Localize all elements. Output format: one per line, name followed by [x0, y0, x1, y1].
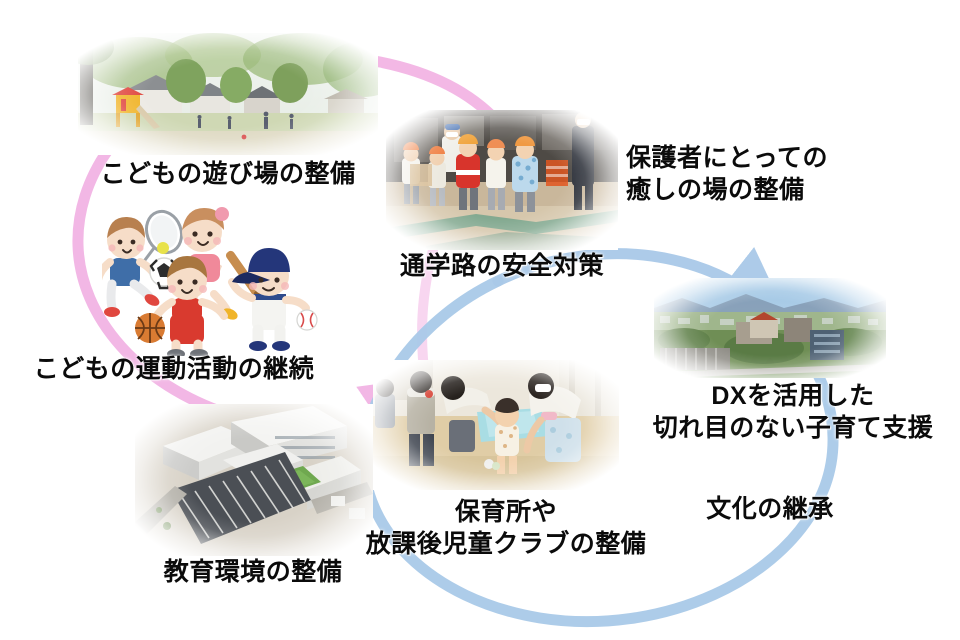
caption-playground: こどもの遊び場の整備	[78, 158, 378, 190]
caption-sports-activity: こどもの運動活動の継続	[14, 353, 334, 385]
caption-education-env: 教育環境の整備	[122, 556, 384, 588]
illustration-sports-kids	[102, 196, 334, 356]
caption-culture: 文化の継承	[660, 493, 880, 525]
photo-park-playground	[78, 33, 378, 155]
caption-school-route: 通学路の安全対策	[378, 250, 626, 282]
kid-baseball	[224, 248, 317, 351]
caption-nursery-afterschool: 保育所や 放課後児童クラブの整備	[336, 496, 676, 560]
caption-caregiver-respite: 保護者にとっての 癒しの場の整備	[626, 142, 926, 206]
slide-canvas: こどもの遊び場の整備 通学路の安全対策 保護者にとっての 癒しの場の整備 DXを…	[0, 0, 960, 640]
photo-children-walking	[386, 110, 618, 250]
photo-nursery-visit	[373, 360, 619, 490]
photo-aerial-town	[654, 278, 886, 378]
caption-dx-support: DXを活用した 切れ目のない子育て支援	[628, 380, 958, 444]
